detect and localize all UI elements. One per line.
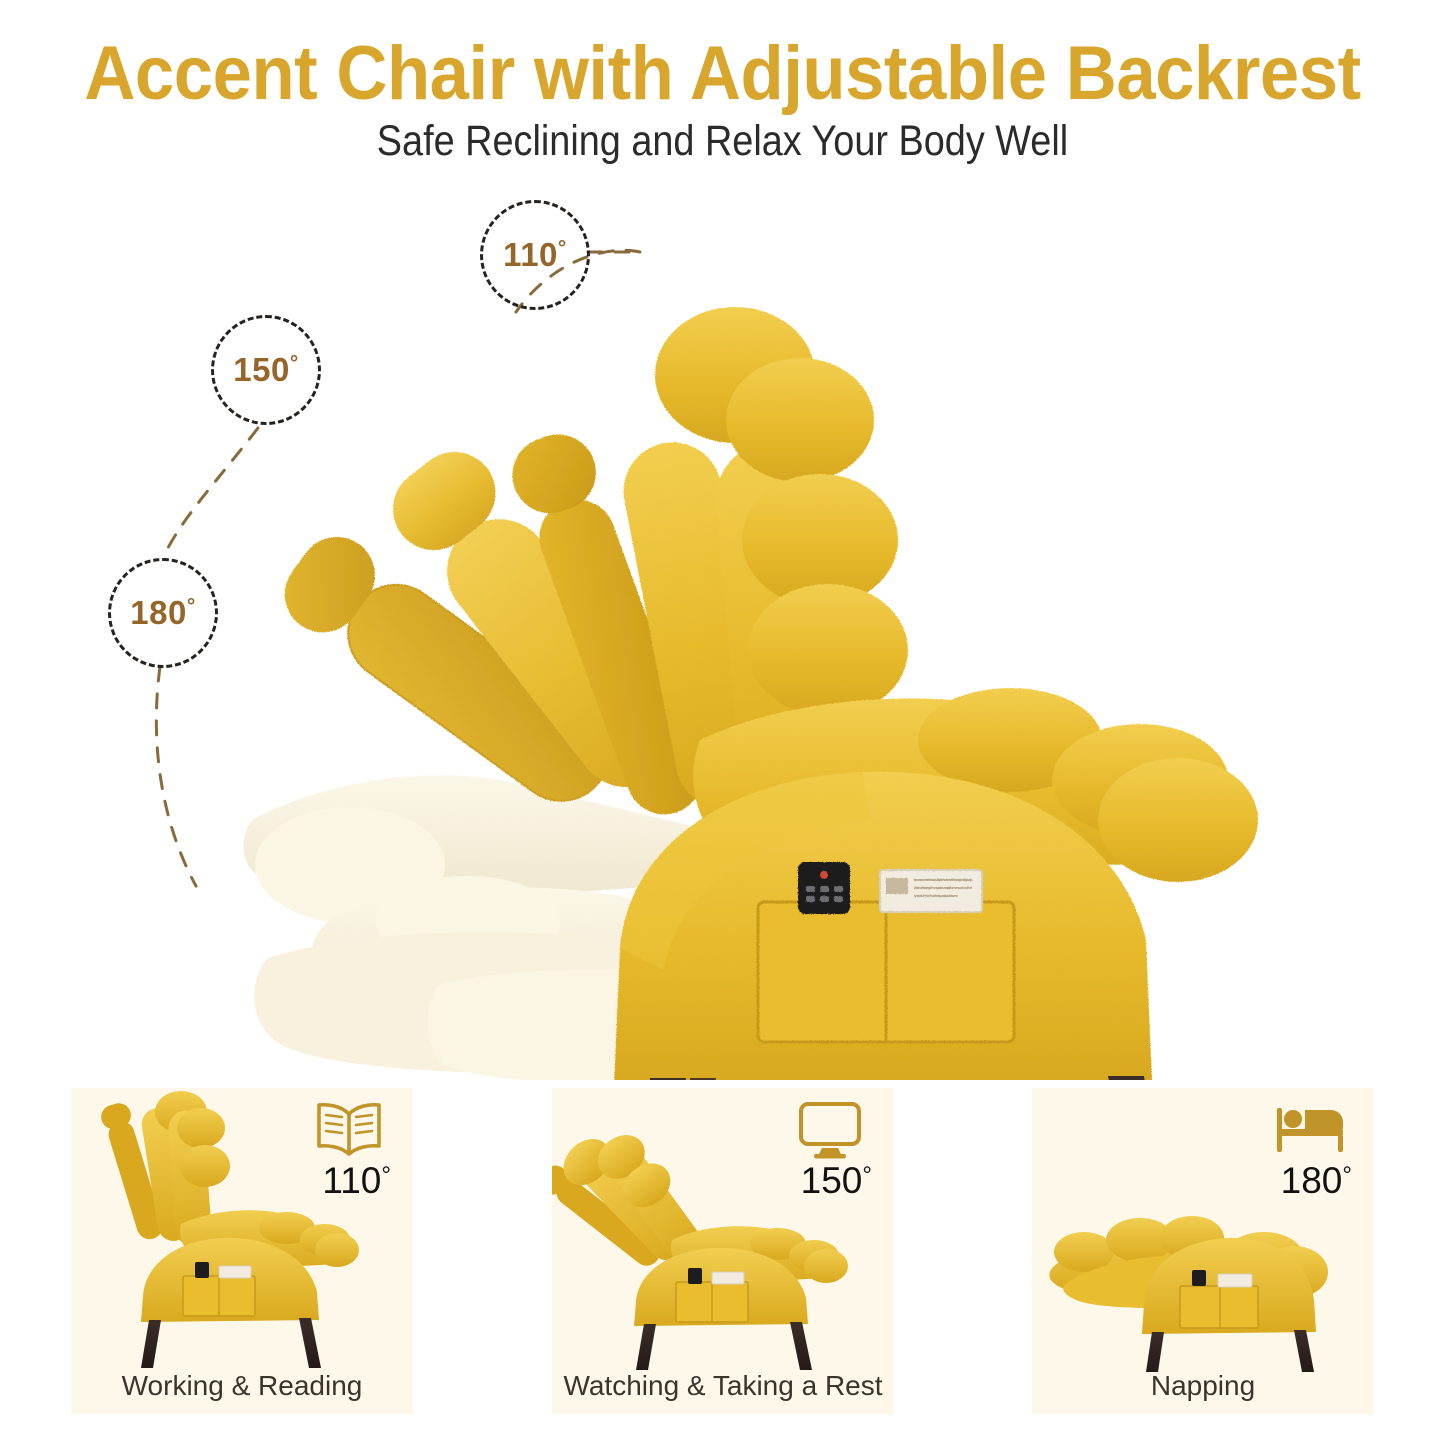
panel-caption-working-reading: Working & Reading xyxy=(71,1370,413,1402)
panel-angle-180: 180° xyxy=(1222,1160,1352,1202)
feature-panel-watching-rest[interactable]: 150° Watching & Taking a Rest xyxy=(552,1088,894,1414)
side-pocket xyxy=(758,902,1014,1042)
armrest-roll xyxy=(1098,758,1258,882)
angle-badge-110: 110° xyxy=(480,200,590,310)
angle-badge-180-value: 180 xyxy=(130,594,187,632)
degree-symbol: ° xyxy=(1342,1162,1352,1189)
header-banner: Accent Chair with Adjustable Backrest Sa… xyxy=(0,0,1445,180)
feature-panel-napping[interactable]: 180° Napping xyxy=(1032,1088,1374,1414)
panel-angle-110: 110° xyxy=(261,1160,391,1202)
degree-symbol: ° xyxy=(381,1162,391,1189)
angle-badge-110-value: 110 xyxy=(503,236,558,274)
panel-angle-value: 110 xyxy=(322,1160,381,1201)
chair-recline-diagram xyxy=(0,180,1445,1080)
degree-symbol: ° xyxy=(558,238,567,259)
panel-caption-napping: Napping xyxy=(1032,1370,1374,1402)
page-subtitle: Safe Reclining and Relax Your Body Well xyxy=(87,118,1359,165)
hero-illustration: 110° 150° 180° xyxy=(0,180,1445,1080)
degree-symbol: ° xyxy=(290,353,299,374)
bed-sleeping-icon xyxy=(1272,1098,1348,1162)
open-book-icon xyxy=(311,1098,387,1162)
monitor-icon xyxy=(792,1098,868,1162)
panel-caption-watching-rest: Watching & Taking a Rest xyxy=(552,1370,894,1402)
angle-badge-150: 150° xyxy=(211,315,321,425)
feature-panel-row: 110° Working & Reading xyxy=(0,1088,1445,1414)
panel-angle-value: 150 xyxy=(801,1160,863,1201)
feature-panel-working-reading[interactable]: 110° Working & Reading xyxy=(71,1088,413,1414)
angle-badge-150-value: 150 xyxy=(233,351,290,389)
remote-control xyxy=(798,862,850,914)
degree-symbol: ° xyxy=(862,1162,872,1189)
magazine xyxy=(880,870,982,912)
angle-badge-180: 180° xyxy=(108,558,218,668)
degree-symbol: ° xyxy=(187,596,196,617)
page-title: Accent Chair with Adjustable Backrest xyxy=(51,36,1395,112)
panel-angle-150: 150° xyxy=(742,1160,872,1202)
panel-angle-value: 180 xyxy=(1281,1160,1343,1201)
